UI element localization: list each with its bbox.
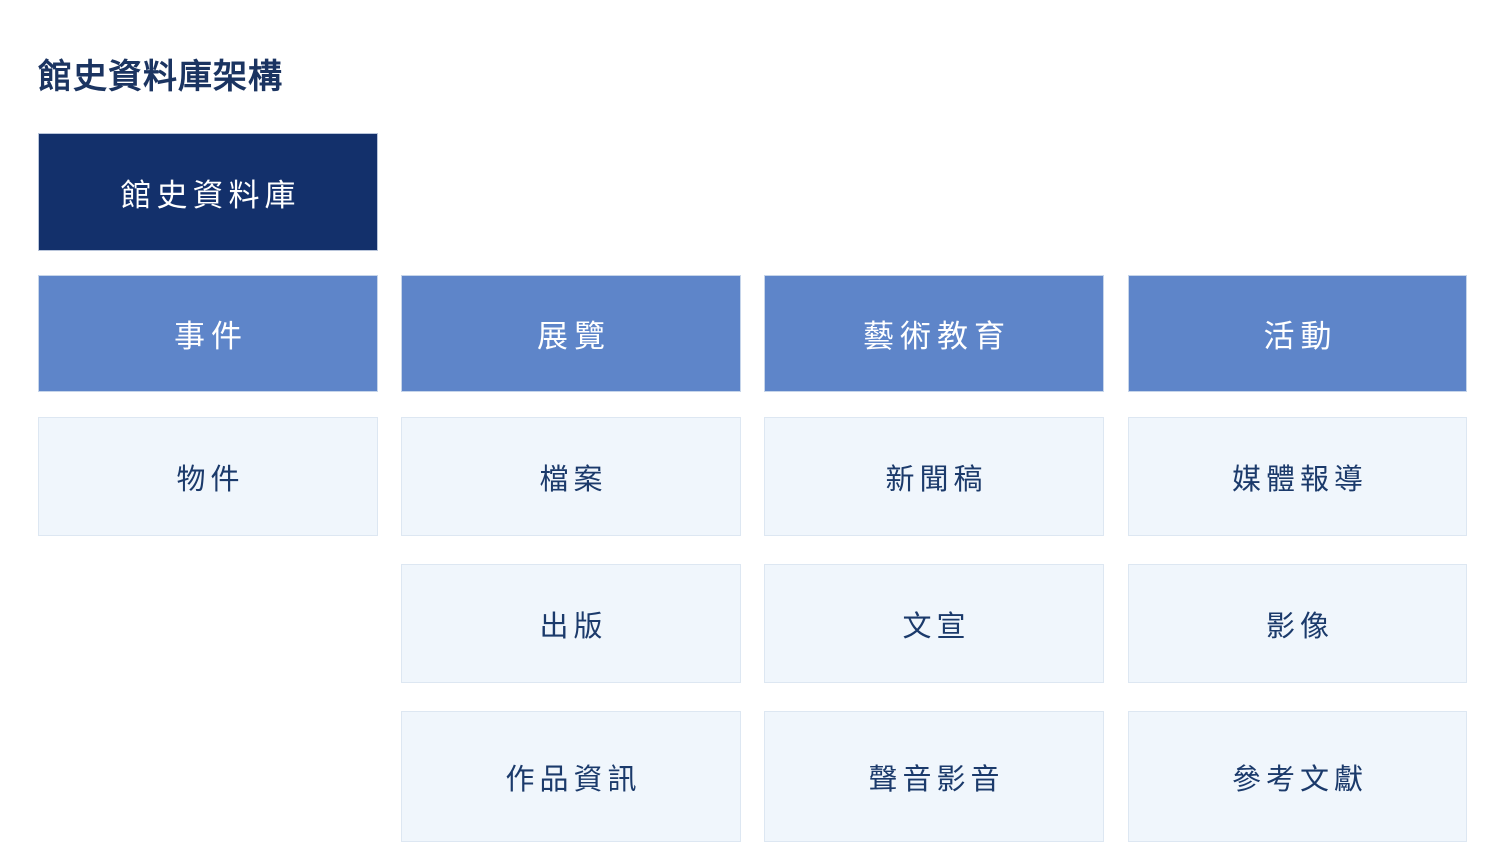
category-node-label: 事件 — [168, 311, 248, 356]
page-title: 館史資料庫架構 — [38, 57, 283, 98]
item-node-label: 文宣 — [897, 603, 970, 645]
category-node-events[interactable]: 事件 — [38, 275, 378, 392]
item-node-label: 影像 — [1261, 603, 1334, 645]
category-node-label: 活動 — [1258, 311, 1338, 356]
item-node-promotional-materials[interactable]: 文宣 — [764, 564, 1104, 683]
item-node-label: 物件 — [171, 456, 244, 498]
category-node-art-education[interactable]: 藝術教育 — [764, 275, 1104, 392]
item-node-label: 媒體報導 — [1227, 456, 1368, 498]
category-node-label: 藝術教育 — [857, 311, 1011, 356]
root-node-label: 館史資料庫 — [116, 170, 301, 215]
item-node-label: 參考文獻 — [1227, 756, 1368, 798]
item-node-archives[interactable]: 檔案 — [401, 417, 741, 536]
category-node-exhibitions[interactable]: 展覽 — [401, 275, 741, 392]
item-node-audio-video[interactable]: 聲音影音 — [764, 711, 1104, 842]
item-node-label: 新聞稿 — [880, 456, 987, 498]
item-node-press-releases[interactable]: 新聞稿 — [764, 417, 1104, 536]
root-node-museum-history-database[interactable]: 館史資料庫 — [38, 133, 378, 251]
item-node-images[interactable]: 影像 — [1128, 564, 1467, 683]
category-node-activities[interactable]: 活動 — [1128, 275, 1467, 392]
item-node-label: 作品資訊 — [500, 756, 641, 798]
item-node-artwork-info[interactable]: 作品資訊 — [401, 711, 741, 842]
item-node-label: 檔案 — [534, 456, 607, 498]
category-node-label: 展覽 — [531, 311, 611, 356]
org-chart-diagram: 館史資料庫架構 館史資料庫 事件 物件 展覽 檔案 出版 作品資訊 藝術教育 新… — [0, 0, 1507, 862]
item-node-objects[interactable]: 物件 — [38, 417, 378, 536]
item-node-publications[interactable]: 出版 — [401, 564, 741, 683]
item-node-label: 聲音影音 — [863, 756, 1004, 798]
item-node-media-coverage[interactable]: 媒體報導 — [1128, 417, 1467, 536]
item-node-label: 出版 — [534, 603, 607, 645]
item-node-references[interactable]: 參考文獻 — [1128, 711, 1467, 842]
